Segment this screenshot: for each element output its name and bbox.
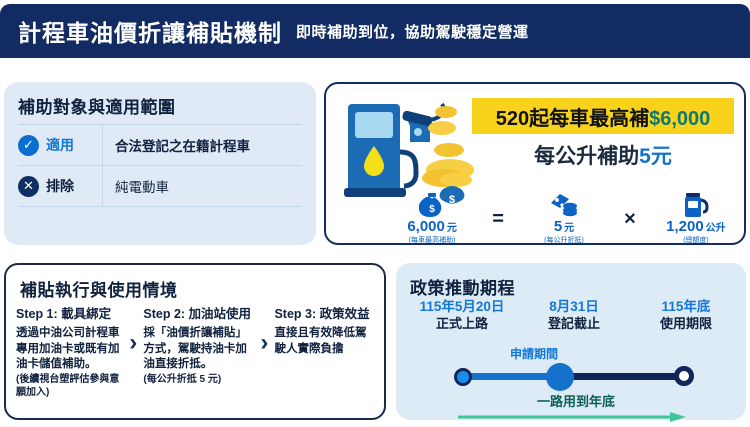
- formula-unit: 公升: [706, 223, 726, 234]
- operator-multiply: ×: [616, 192, 644, 231]
- subsidy-amount-card: $ 520起每車最高補$6,000 每公升補助5元 $ 6,000元 (每車最高…: [324, 82, 746, 245]
- banner-text: 520起每車最高補$6,000: [496, 102, 711, 131]
- page-title: 計程車油價折讓補貼機制: [18, 14, 282, 48]
- milestone-date: 8月31日: [524, 299, 624, 316]
- step-heading: Step 1: 載具綁定: [16, 303, 123, 322]
- highlight-banner: 520起每車最高補$6,000: [472, 98, 734, 134]
- formula-item-total: $ 6,000元 (每車最高補助): [384, 192, 480, 245]
- formula-note: (總額度): [683, 235, 709, 245]
- step-heading: Step 3: 政策效益: [274, 303, 376, 322]
- policy-timeline-card: 政策推動期程 115年5月20日 正式上路 8月31日 登記截止 115年底 使…: [396, 263, 746, 420]
- formula-number: 1,200: [666, 218, 704, 235]
- eligibility-key-cell: ✕ 排除: [18, 166, 103, 206]
- page-subtitle: 即時補助到位，協助駕駛穩定營運: [296, 21, 529, 42]
- formula-unit: 元: [447, 223, 457, 234]
- step-note: (每公升折抵 5 元): [143, 373, 254, 386]
- milestone-desc: 登記截止: [524, 316, 624, 332]
- per-liter-line: 每公升補助5元: [472, 140, 734, 170]
- timeline-dot-start: [454, 368, 472, 386]
- eligibility-card: 補助對象與適用範圍 ✓ 適用 合法登記之在籍計程車 ✕ 排除 純電動車: [4, 82, 316, 245]
- formula-value: 6,000元: [407, 218, 457, 235]
- infographic-page: 計程車油價折讓補貼機制 即時補助到位，協助駕駛穩定營運 補助對象與適用範圍 ✓ …: [0, 0, 750, 424]
- formula-unit: 元: [564, 223, 574, 234]
- subsidy-formula: $ 6,000元 (每車最高補助) =: [384, 192, 744, 242]
- eligibility-key: 排除: [46, 176, 74, 196]
- green-arrow-icon: [458, 409, 688, 419]
- timeline-title: 政策推動期程: [410, 274, 515, 299]
- eligibility-value: 純電動車: [103, 176, 169, 196]
- step-body: 透過中油公司計程車專用加油卡或既有加油卡儲值補助。: [16, 326, 123, 373]
- timeline: 115年5月20日 正式上路 8月31日 登記截止 115年底 使用期限 申請期…: [396, 299, 746, 419]
- milestone-date: 115年5月20日: [402, 299, 522, 316]
- per-liter-value: 5元: [639, 145, 672, 168]
- svg-text:$: $: [429, 204, 435, 215]
- operator-equals: =: [484, 192, 512, 231]
- step-item-3: Step 3: 政策效益 直接且有效降低駕駛人實際負擔: [274, 303, 376, 357]
- apply-period-label: 申請期間: [474, 345, 594, 362]
- formula-note: (每公升折抵): [544, 235, 584, 245]
- banner-amount: $6,000: [649, 108, 710, 130]
- timeline-track: [396, 363, 746, 389]
- banner-prefix: 520起每車最高補: [496, 108, 649, 130]
- milestone-date: 115年底: [636, 299, 736, 316]
- steps-title: 補貼執行與使用情境: [20, 276, 178, 301]
- eligibility-key: 適用: [46, 135, 74, 155]
- step-note: (後續視台塑評估參與意願加入): [16, 373, 123, 399]
- table-row: ✕ 排除 純電動車: [18, 165, 302, 207]
- coins-tag-icon: [549, 192, 579, 218]
- eligibility-key-cell: ✓ 適用: [18, 125, 103, 165]
- timeline-footer-label: 一路用到年底: [446, 391, 706, 410]
- execution-steps-card: 補貼執行與使用情境 Step 1: 載具綁定 透過中油公司計程車專用加油卡或既有…: [4, 263, 386, 420]
- timeline-dot-middle: [546, 363, 574, 391]
- timeline-dot-end: [674, 366, 694, 386]
- step-item-2: Step 2: 加油站使用 採「油價折讓補貼」方式，駕駛持油卡加油直接折抵。 (…: [143, 303, 254, 386]
- header-banner: 計程車油價折讓補貼機制 即時補助到位，協助駕駛穩定營運: [0, 4, 750, 58]
- per-liter-label: 每公升補助: [534, 145, 639, 168]
- formula-note: (每車最高補助): [409, 235, 456, 245]
- timeline-segment-use: [562, 373, 682, 380]
- eligibility-value: 合法登記之在籍計程車: [103, 135, 250, 155]
- money-bag-icon: $: [419, 192, 445, 218]
- milestone-desc: 使用期限: [636, 316, 736, 332]
- milestone-desc: 正式上路: [402, 316, 522, 332]
- formula-value: 1,200公升: [666, 218, 726, 235]
- formula-item-liters: 1,200公升 (總額度): [648, 192, 744, 245]
- table-row: ✓ 適用 合法登記之在籍計程車: [18, 124, 302, 165]
- formula-number: 5: [554, 218, 562, 235]
- check-circle-icon: ✓: [18, 135, 39, 156]
- step-heading: Step 2: 加油站使用: [143, 303, 254, 322]
- eligibility-title: 補助對象與適用範圍: [18, 93, 176, 118]
- formula-item-per-liter: 5元 (每公升折抵): [516, 192, 612, 245]
- milestone-label-2: 8月31日 登記截止: [524, 299, 624, 332]
- formula-value: 5元: [554, 218, 574, 235]
- milestone-label-3: 115年底 使用期限: [636, 299, 736, 332]
- fuel-nozzle-icon: [683, 192, 709, 218]
- steps-list: Step 1: 載具綁定 透過中油公司計程車專用加油卡或既有加油卡儲值補助。 (…: [16, 303, 376, 415]
- step-body: 直接且有效降低駕駛人實際負擔: [274, 326, 376, 357]
- step-item-1: Step 1: 載具綁定 透過中油公司計程車專用加油卡或既有加油卡儲值補助。 (…: [16, 303, 123, 399]
- step-body: 採「油價折讓補貼」方式，駕駛持油卡加油直接折抵。: [143, 326, 254, 373]
- chevron-right-icon: ›: [123, 303, 143, 357]
- eligibility-table: ✓ 適用 合法登記之在籍計程車 ✕ 排除 純電動車: [18, 124, 302, 207]
- timeline-labels: 115年5月20日 正式上路 8月31日 登記截止 115年底 使用期限: [396, 299, 746, 345]
- chevron-right-icon: ›: [254, 303, 274, 357]
- milestone-label-1: 115年5月20日 正式上路: [402, 299, 522, 332]
- formula-number: 6,000: [407, 218, 445, 235]
- cross-circle-icon: ✕: [18, 176, 39, 197]
